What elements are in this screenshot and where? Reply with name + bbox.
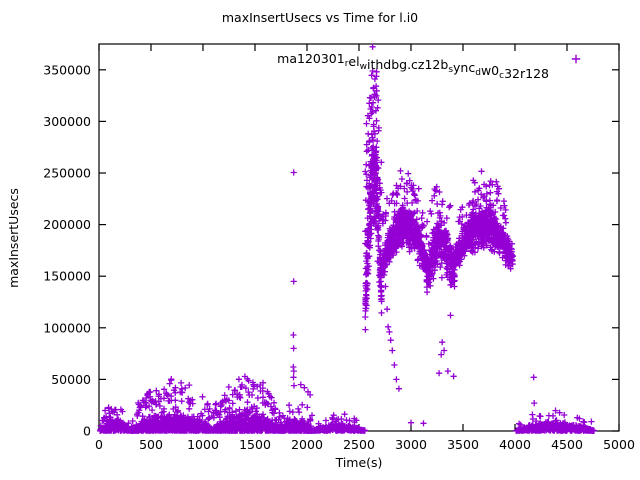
x-tick-label: 2500 bbox=[343, 437, 375, 452]
legend-subscript: w bbox=[360, 62, 367, 72]
x-tick-label: 3000 bbox=[395, 437, 427, 452]
x-tick-label: 5000 bbox=[603, 437, 635, 452]
y-tick-label: 200000 bbox=[43, 217, 91, 232]
y-tick-label: 250000 bbox=[43, 166, 91, 181]
y-tick-label: 100000 bbox=[43, 320, 91, 335]
x-tick-label: 4500 bbox=[551, 437, 583, 452]
x-axis-label: Time(s) bbox=[335, 455, 383, 470]
y-tick-label: 300000 bbox=[43, 114, 91, 129]
legend-text-run: ync bbox=[453, 60, 475, 75]
gnuplot-canvas: maxInsertUsecs vs Time for l.i0 05000010… bbox=[0, 0, 640, 480]
y-tick-label: 50000 bbox=[51, 372, 91, 387]
x-tick-label: 1500 bbox=[239, 437, 271, 452]
legend-text-run: ithdbg.cz12b bbox=[367, 57, 448, 72]
chart-title: maxInsertUsecs vs Time for l.i0 bbox=[222, 10, 418, 25]
x-tick-label: 3500 bbox=[447, 437, 479, 452]
scatter-chart: maxInsertUsecs vs Time for l.i0 05000010… bbox=[0, 0, 640, 480]
legend-text-run: el bbox=[348, 54, 359, 69]
legend-text-run: w0 bbox=[481, 63, 499, 78]
x-tick-label: 500 bbox=[139, 437, 163, 452]
y-tick-label: 150000 bbox=[43, 269, 91, 284]
x-tick-label: 0 bbox=[95, 437, 103, 452]
legend-text-run: ma120301 bbox=[277, 51, 345, 66]
y-axis-label: maxInsertUsecs bbox=[6, 188, 21, 288]
x-tick-label: 1000 bbox=[187, 437, 219, 452]
legend-text-run: 32r128 bbox=[504, 66, 549, 81]
x-tick-label: 2000 bbox=[291, 437, 323, 452]
y-tick-label: 0 bbox=[83, 424, 91, 439]
x-tick-label: 4000 bbox=[499, 437, 531, 452]
y-tick-label: 350000 bbox=[43, 62, 91, 77]
